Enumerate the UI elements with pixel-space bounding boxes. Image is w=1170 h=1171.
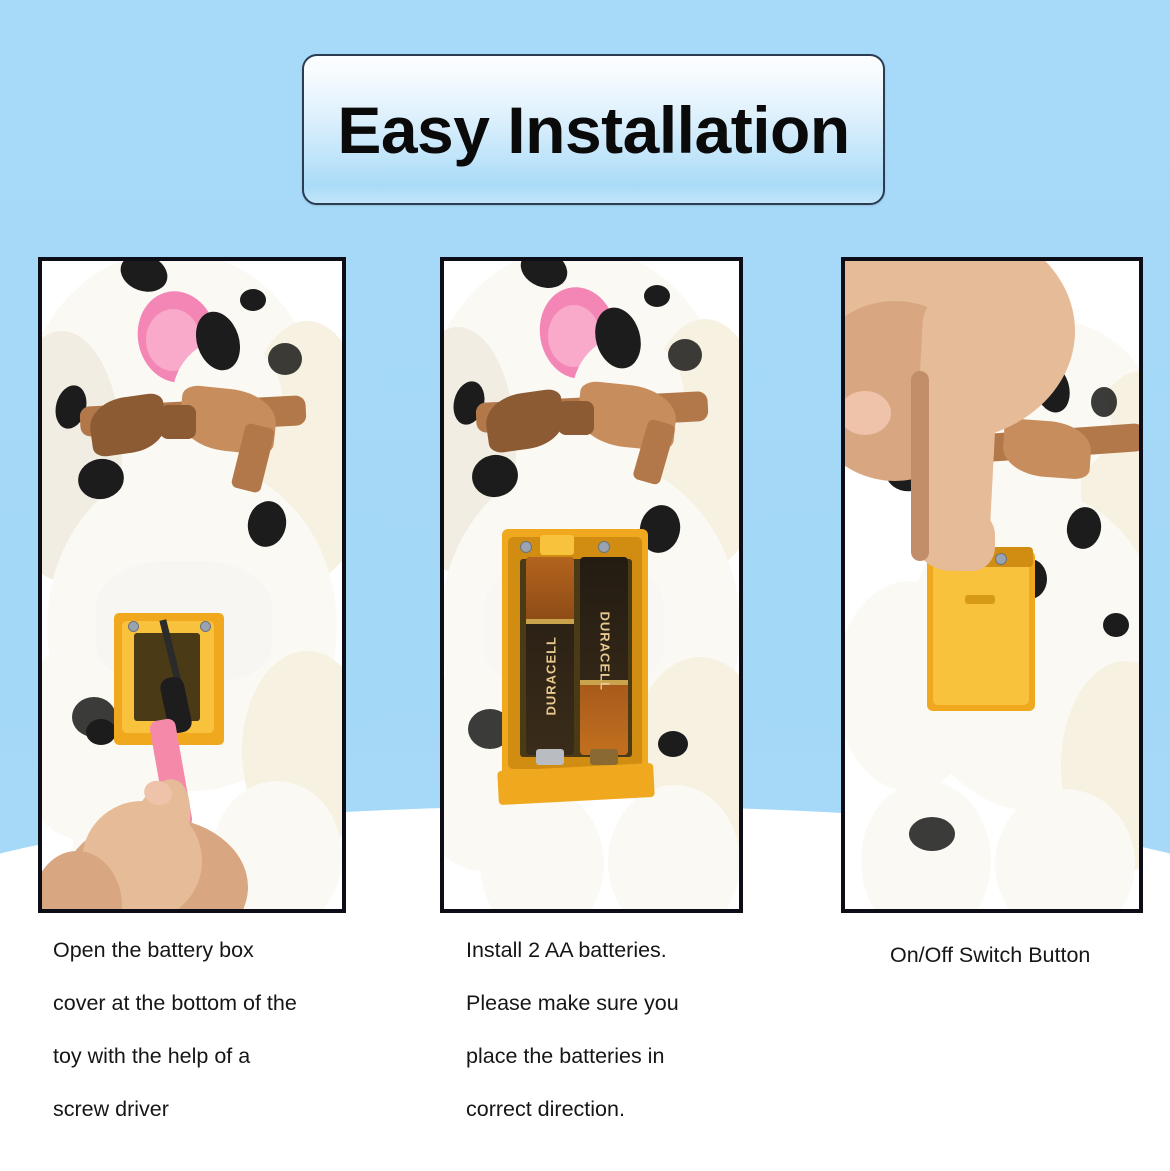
caption-line: Install 2 AA batteries. xyxy=(466,924,756,977)
caption-line: cover at the bottom of the xyxy=(53,977,353,1030)
ribbon-knot xyxy=(160,405,196,439)
step-2-caption: Install 2 AA batteries. Please make sure… xyxy=(466,924,756,1136)
battery-right: DURACELL xyxy=(580,557,628,755)
caption-line: screw driver xyxy=(53,1083,353,1136)
caption-line: correct direction. xyxy=(466,1083,756,1136)
step-3-photo xyxy=(845,261,1139,909)
installation-infographic: Easy Installation xyxy=(0,0,1170,1171)
page-title: Easy Installation xyxy=(337,97,849,163)
title-plaque: Easy Installation xyxy=(302,54,885,205)
caption-line: Please make sure you xyxy=(466,977,756,1030)
compartment-screw xyxy=(520,541,532,553)
step-1-photo xyxy=(42,261,342,909)
battery-brand-label: DURACELL xyxy=(544,638,559,716)
battery-door-screw xyxy=(200,621,211,632)
battery-brand-label-reversed: DURACELL xyxy=(598,612,613,690)
step-3-photo-frame xyxy=(841,257,1143,913)
step-1-caption: Open the battery box cover at the bottom… xyxy=(53,924,353,1136)
battery-left: DURACELL xyxy=(526,557,574,755)
caption-line: toy with the help of a xyxy=(53,1030,353,1083)
caption-line: On/Off Switch Button xyxy=(890,929,1150,982)
caption-line: Open the battery box xyxy=(53,924,353,977)
battery-door-screw xyxy=(128,621,139,632)
caption-line: place the batteries in xyxy=(466,1030,756,1083)
door-screw xyxy=(995,553,1007,565)
step-2-photo: DURACELL DURACELL xyxy=(444,261,739,909)
step-1-photo-frame xyxy=(38,257,346,913)
compartment-screw xyxy=(598,541,610,553)
step-3-caption: On/Off Switch Button xyxy=(890,929,1150,982)
step-2-photo-frame: DURACELL DURACELL xyxy=(440,257,743,913)
